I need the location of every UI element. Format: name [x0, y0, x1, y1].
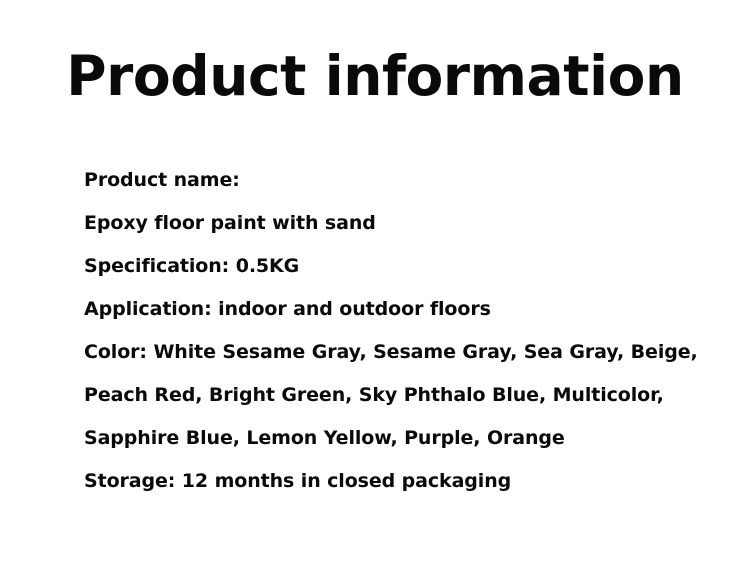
product-info-list: Product name: Epoxy floor paint with san…	[84, 159, 684, 503]
product-name-label: Product name:	[84, 159, 684, 202]
page-title: Product information	[0, 43, 750, 109]
color-line-1: Color: White Sesame Gray, Sesame Gray, S…	[84, 331, 684, 374]
product-name-value: Epoxy floor paint with sand	[84, 202, 684, 245]
specification-line: Specification: 0.5KG	[84, 245, 684, 288]
color-line-2: Peach Red, Bright Green, Sky Phthalo Blu…	[84, 374, 684, 417]
product-information-page: Product information Product name: Epoxy …	[0, 0, 750, 566]
application-line: Application: indoor and outdoor floors	[84, 288, 684, 331]
storage-line: Storage: 12 months in closed packaging	[84, 460, 684, 503]
color-line-3: Sapphire Blue, Lemon Yellow, Purple, Ora…	[84, 417, 684, 460]
